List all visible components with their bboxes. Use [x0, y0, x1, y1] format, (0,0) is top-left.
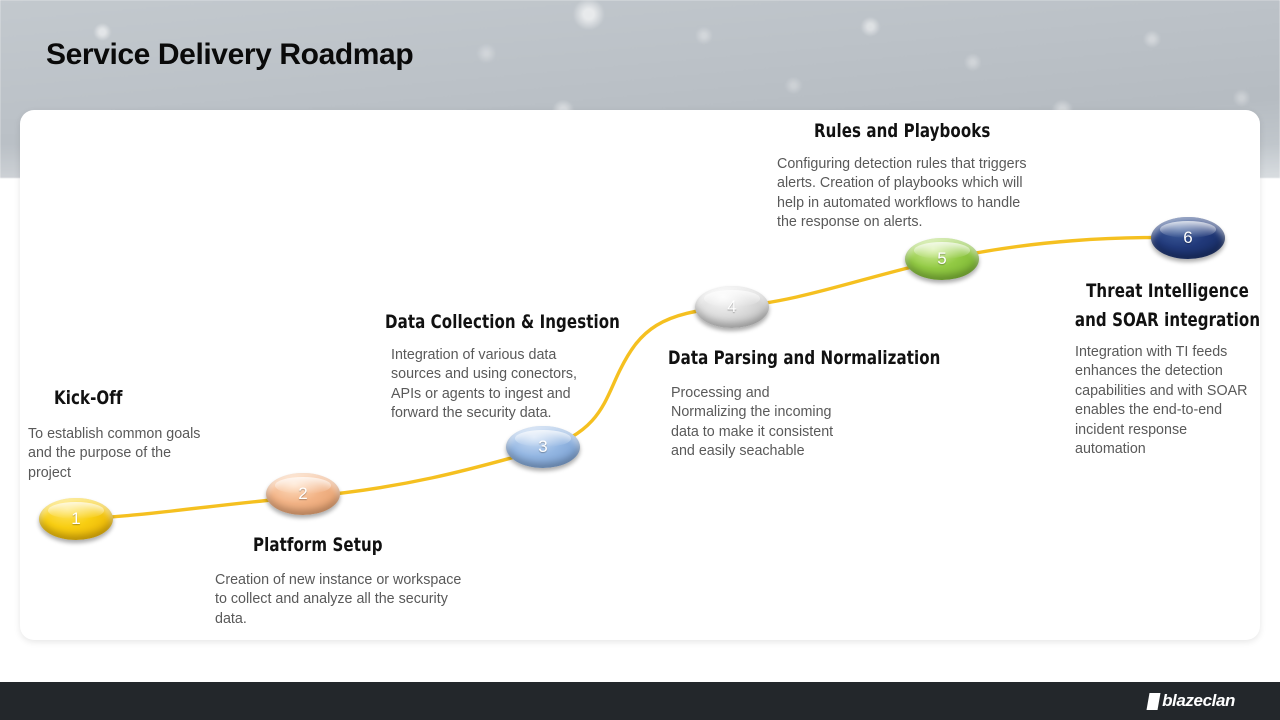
milestone-number-6: 6 — [1183, 228, 1192, 248]
step-title-6: Threat Intelligence and SOAR integration — [1069, 277, 1267, 335]
milestone-node-3[interactable]: 3 — [506, 426, 580, 468]
milestone-number-4: 4 — [727, 297, 736, 317]
milestone-node-4[interactable]: 4 — [695, 286, 769, 328]
milestone-number-1: 1 — [71, 509, 80, 529]
milestone-node-2[interactable]: 2 — [266, 473, 340, 515]
milestone-bubble-3[interactable]: 3 — [506, 426, 580, 468]
step-title-4: Data Parsing and Normalization — [668, 347, 940, 369]
content-card — [20, 110, 1260, 640]
milestone-bubble-4[interactable]: 4 — [695, 286, 769, 328]
brand-logo: blazeclan — [1148, 691, 1235, 711]
step-title-3: Data Collection & Ingestion — [385, 311, 620, 333]
logo-text: blazeclan — [1162, 691, 1235, 711]
milestone-number-3: 3 — [538, 437, 547, 457]
milestone-node-6[interactable]: 6 — [1151, 217, 1225, 259]
step-description-3: Integration of various data sources and … — [391, 346, 606, 424]
step-title-2: Platform Setup — [253, 534, 383, 556]
footer-bar: blazeclan — [0, 682, 1280, 720]
milestone-node-1[interactable]: 1 — [39, 498, 113, 540]
step-description-2: Creation of new instance or workspace to… — [215, 571, 465, 629]
step-description-6: Integration with TI feeds enhances the d… — [1075, 343, 1260, 459]
milestone-bubble-1[interactable]: 1 — [39, 498, 113, 540]
roadmap-slide: Service Delivery Roadmap 1 2 3 4 5 6 — [0, 0, 1280, 720]
page-title: Service Delivery Roadmap — [46, 38, 413, 72]
milestone-number-5: 5 — [937, 249, 946, 269]
milestone-bubble-2[interactable]: 2 — [266, 473, 340, 515]
milestone-number-2: 2 — [298, 484, 307, 504]
milestone-bubble-6[interactable]: 6 — [1151, 217, 1225, 259]
milestone-bubble-5[interactable]: 5 — [905, 238, 979, 280]
milestone-node-5[interactable]: 5 — [905, 238, 979, 280]
step-title-5: Rules and Playbooks — [814, 120, 990, 142]
step-description-1: To establish common goals and the purpos… — [28, 425, 213, 483]
step-description-4: Processing and Normalizing the incoming … — [671, 384, 846, 462]
step-description-5: Configuring detection rules that trigger… — [777, 155, 1037, 233]
step-title-1: Kick-Off — [54, 387, 123, 409]
logo-mark-icon — [1147, 693, 1161, 710]
